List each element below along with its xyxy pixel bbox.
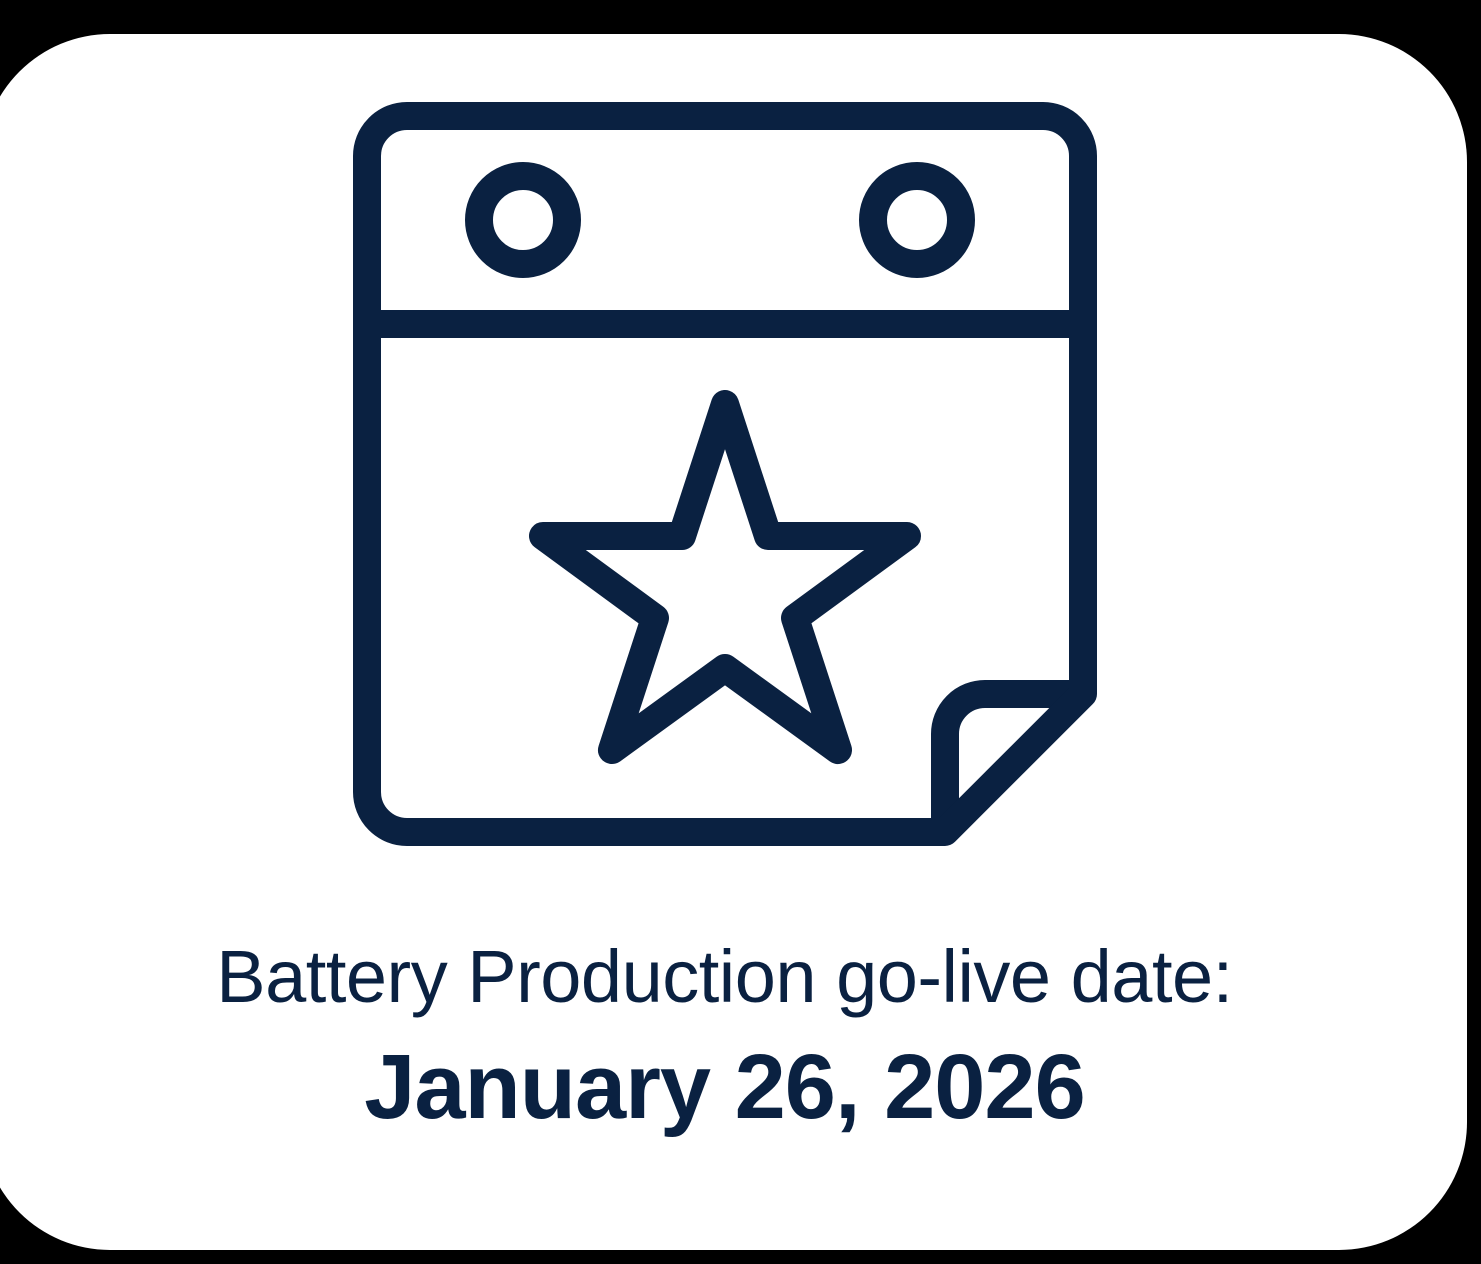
- info-card: Battery Production go-live date: January…: [0, 34, 1467, 1250]
- screenshot-canvas: Battery Production go-live date: January…: [0, 0, 1481, 1264]
- calendar-star-icon: [0, 94, 1467, 864]
- go-live-date-value: January 26, 2026: [22, 1034, 1427, 1141]
- info-card-content: Battery Production go-live date: January…: [0, 34, 1467, 1250]
- calendar-hole-right-shape: [873, 176, 961, 264]
- star-outline-shape: [543, 404, 907, 750]
- calendar-hole-left-shape: [479, 176, 567, 264]
- go-live-label: Battery Production go-live date:: [22, 934, 1427, 1020]
- caption-block: Battery Production go-live date: January…: [0, 934, 1467, 1141]
